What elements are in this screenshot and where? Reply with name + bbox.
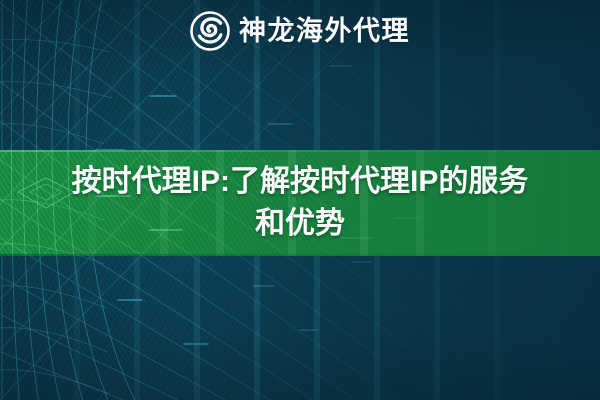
headline-line-1: 按时代理IP:了解按时代理IP的服务 [72, 161, 529, 203]
spiral-swirl-logo-icon [190, 11, 230, 51]
headline-text-block: 按时代理IP:了解按时代理IP的服务 和优势 [0, 150, 600, 256]
headline-band: 按时代理IP:了解按时代理IP的服务 和优势 [0, 150, 600, 256]
promo-banner-image: 神龙海外代理 [0, 0, 600, 400]
brand-logo: 神龙海外代理 [0, 11, 600, 51]
headline-line-2: 和优势 [255, 203, 345, 245]
brand-name-text: 神龙海外代理 [239, 18, 410, 45]
